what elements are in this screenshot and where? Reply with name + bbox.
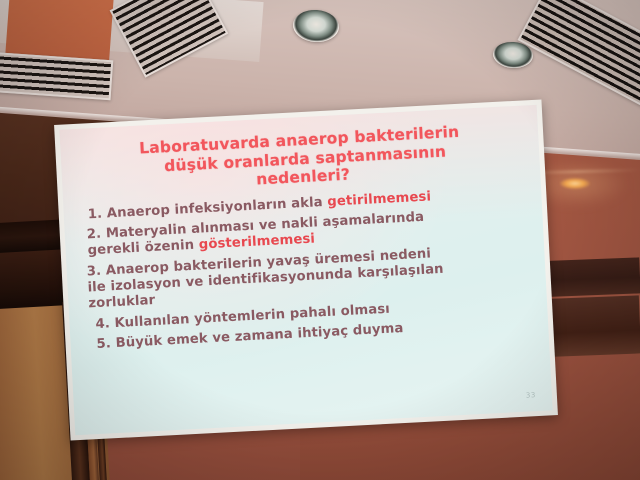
photo-scene: Laboratuvarda anaerop bakterilerin düşük… (0, 0, 640, 480)
slide-content: Laboratuvarda anaerop bakterilerin düşük… (59, 105, 552, 436)
air-vent-left-icon (0, 52, 113, 101)
wall-light-icon (560, 178, 590, 189)
vent-slats (0, 52, 113, 101)
ceiling-orange-patch (5, 0, 113, 61)
projection-screen: Laboratuvarda anaerop bakterilerin düşük… (59, 105, 552, 436)
item-3-line-3: zorluklar (88, 293, 155, 311)
slide-item-list: 1. Anaerop infeksiyonların akla getirilm… (79, 184, 532, 354)
item-1-highlight: getirilmemesi (327, 189, 431, 209)
slide-number: 33 (526, 391, 536, 400)
slide-title: Laboratuvarda anaerop bakterilerin düşük… (76, 120, 524, 199)
projection-screen-frame: Laboratuvarda anaerop bakterilerin düşük… (54, 99, 558, 440)
